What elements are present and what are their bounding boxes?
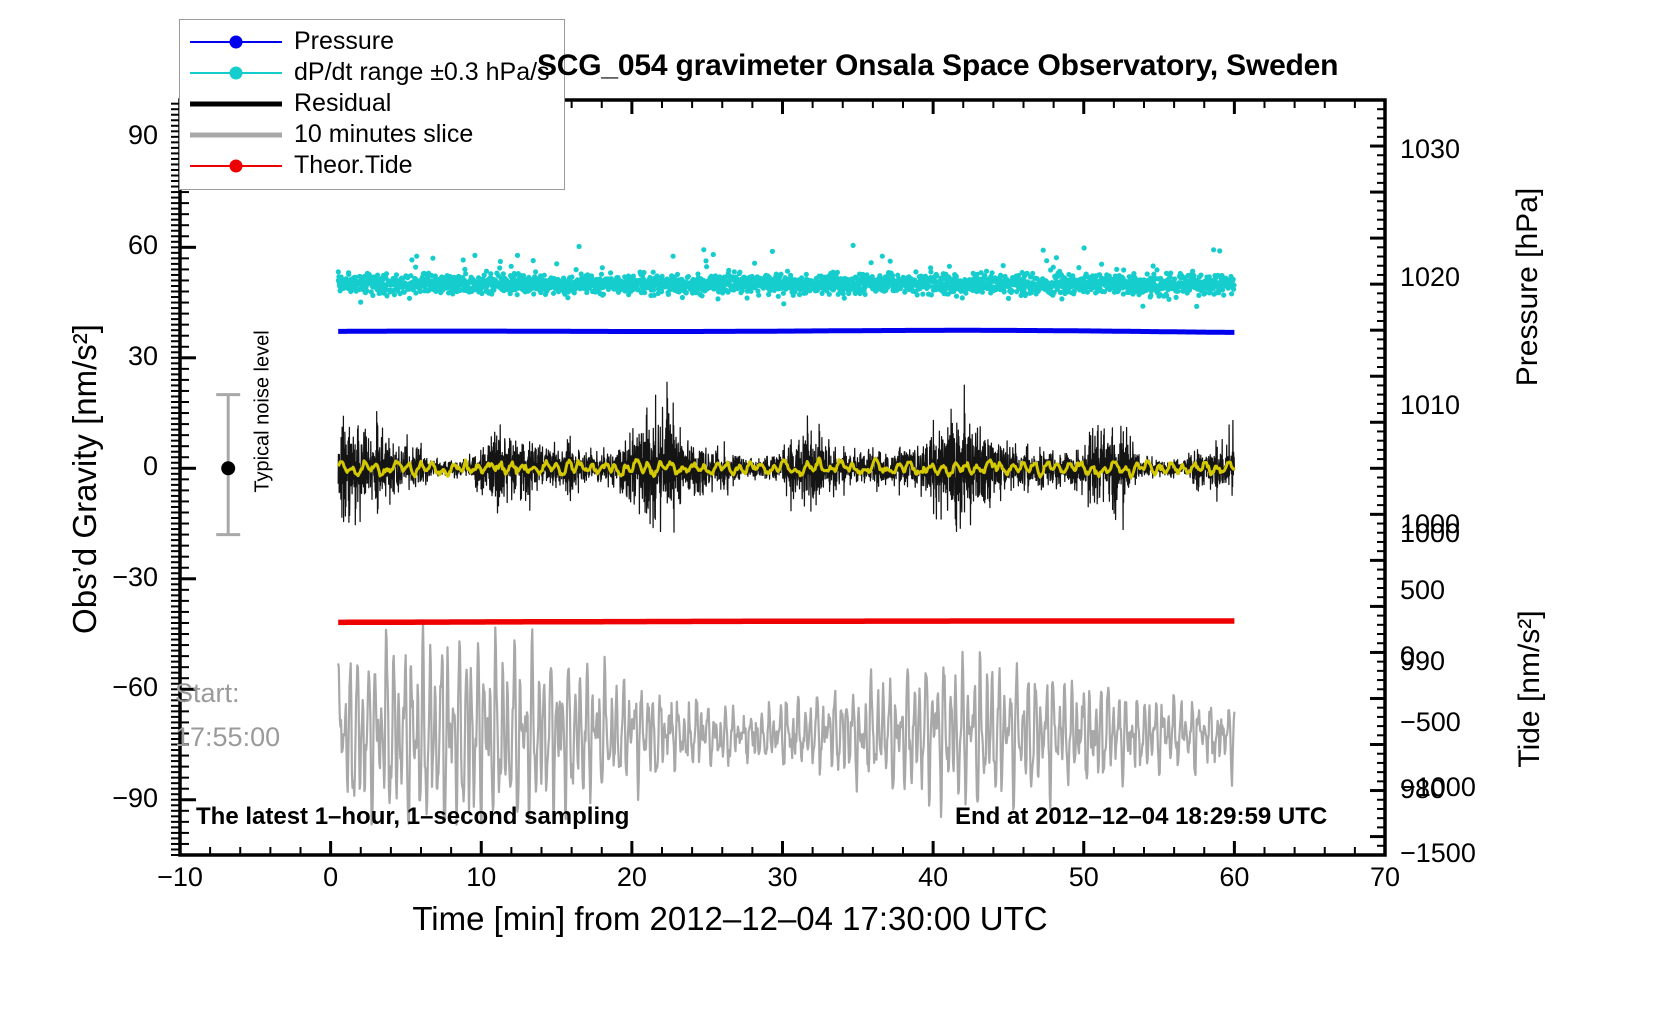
start-time: 17:55:00 (175, 722, 280, 753)
x-tick-8: 70 (1340, 862, 1430, 893)
x-tick-4: 30 (738, 862, 828, 893)
legend-label-residual: Residual (294, 89, 391, 118)
y-tick-tide-4: −1000 (1400, 772, 1476, 803)
y-tick-pressure-2: 1010 (1400, 390, 1460, 421)
x-tick-1: 0 (286, 862, 376, 893)
y-tick-gravity-2: 30 (48, 341, 158, 372)
x-tick-7: 60 (1189, 862, 1279, 893)
y-tick-pressure-1: 1020 (1400, 262, 1460, 293)
chart-canvas: Pressure dP/dt range ±0.3 hPa/s Residual… (0, 0, 1676, 1020)
y-tick-gravity-1: 60 (48, 230, 158, 261)
legend-swatch-pressure (190, 32, 282, 52)
y-tick-gravity-4: −30 (48, 562, 158, 593)
legend-label-dpdt: dP/dt range ±0.3 hPa/s (294, 58, 550, 87)
x-tick-2: 10 (436, 862, 526, 893)
x-tick-3: 20 (587, 862, 677, 893)
series-dpdt-scatter (336, 243, 1237, 309)
y-tick-pressure-0: 1030 (1400, 134, 1460, 165)
y-axis-label-tide: Tide [nm/s²] (1513, 499, 1547, 879)
legend-swatch-dpdt (190, 63, 282, 83)
legend-item-slice[interactable]: 10 minutes slice (190, 119, 550, 150)
legend-swatch-slice (190, 125, 282, 145)
x-tick-0: −10 (135, 862, 225, 893)
legend-swatch-residual (190, 94, 282, 114)
series-pressure (338, 330, 1234, 332)
legend-item-dpdt[interactable]: dP/dt range ±0.3 hPa/s (190, 57, 550, 88)
legend-item-pressure[interactable]: Pressure (190, 26, 550, 57)
y-tick-gravity-3: 0 (48, 451, 158, 482)
x-axis-label: Time [min] from 2012–12–04 17:30:00 UTC (0, 900, 1460, 938)
y-axis-label-pressure: Pressure [hPa] (1511, 87, 1545, 487)
y-tick-gravity-5: −60 (48, 672, 158, 703)
legend-swatch-tide (190, 156, 282, 176)
typical-noise-level-label: Typical noise level (252, 327, 275, 497)
legend-item-tide[interactable]: Theor.Tide (190, 150, 550, 181)
end-time-note: End at 2012–12–04 18:29:59 UTC (955, 803, 1327, 831)
y-tick-tide-2: 0 (1400, 641, 1415, 672)
y-tick-tide-3: −500 (1400, 707, 1461, 738)
y-tick-tide-1: 500 (1400, 575, 1445, 606)
series-10min-slice (338, 620, 1234, 824)
x-tick-6: 50 (1039, 862, 1129, 893)
legend-item-residual[interactable]: Residual (190, 88, 550, 119)
typical-noise-errorbar (216, 395, 240, 535)
x-tick-5: 40 (888, 862, 978, 893)
sampling-note: The latest 1–hour, 1–second sampling (196, 803, 629, 831)
chart-legend: Pressure dP/dt range ±0.3 hPa/s Residual… (179, 19, 565, 190)
series-theor-tide (338, 621, 1234, 622)
chart-title: SCG_054 gravimeter Onsala Space Observat… (537, 49, 1338, 83)
legend-label-pressure: Pressure (294, 27, 394, 56)
y-tick-gravity-0: 90 (48, 120, 158, 151)
legend-label-tide: Theor.Tide (294, 151, 413, 180)
legend-label-slice: 10 minutes slice (294, 120, 473, 149)
y-tick-tide-0: 1000 (1400, 509, 1460, 540)
y-tick-gravity-6: −90 (48, 783, 158, 814)
series-residual (338, 382, 1234, 532)
start-label: Start: (175, 678, 240, 709)
